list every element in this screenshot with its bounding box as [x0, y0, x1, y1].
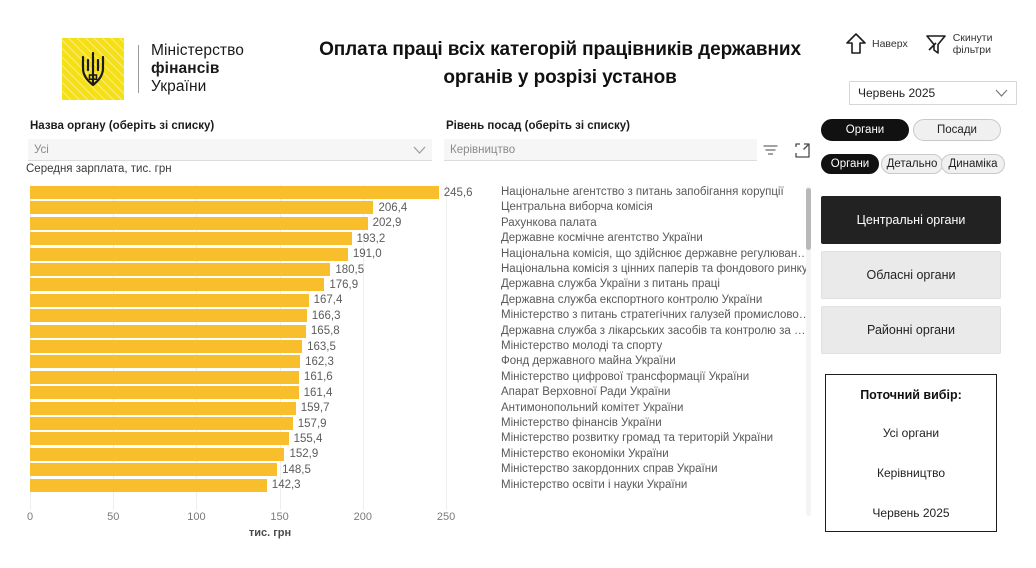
chart-category-label[interactable]: Міністерство розвитку громад та територі…	[501, 432, 773, 444]
chart-rows: 245,6Національне агентство з питань запо…	[30, 185, 805, 510]
arrow-up-icon	[845, 32, 867, 56]
chart-category-label[interactable]: Міністерство економіки України	[501, 448, 669, 460]
chart-bar-value: 167,4	[314, 294, 343, 306]
chart-bar[interactable]	[30, 294, 309, 307]
expand-icon[interactable]	[792, 140, 812, 160]
chart-bar[interactable]	[30, 340, 302, 353]
toggle-detalno[interactable]: Детально	[881, 154, 943, 174]
chart-bar-value: 191,0	[353, 248, 382, 260]
chart-category-label[interactable]: Міністерство закордонних справ України	[501, 463, 718, 475]
level-button-district[interactable]: Районні органи	[821, 306, 1001, 354]
dashboard-root: Міністерство фінансів України Оплата пра…	[0, 0, 1036, 568]
x-axis-tick: 0	[27, 511, 33, 523]
chart-category-label[interactable]: Державне космічне агентство України	[501, 232, 703, 244]
level-button-central[interactable]: Центральні органи	[821, 196, 1001, 244]
chart-category-label[interactable]: Рахункова палата	[501, 217, 597, 229]
clear-filter-icon	[924, 32, 948, 56]
page-header: Міністерство фінансів України Оплата пра…	[0, 0, 1036, 112]
logo-wordmark: Міністерство фінансів України	[151, 42, 244, 96]
filter-icon[interactable]	[760, 140, 780, 160]
chart-x-axis: 050100150200250	[30, 511, 805, 525]
chart-bar-row[interactable]: 163,5	[30, 339, 805, 354]
chart-bar[interactable]	[30, 232, 352, 245]
chart-bar-value: 161,4	[304, 387, 333, 399]
chart-bar-value: 161,6	[304, 371, 333, 383]
chart-bar[interactable]	[30, 325, 306, 338]
logo-line-3: України	[151, 78, 244, 96]
chart-bar[interactable]	[30, 402, 296, 415]
chart-bar-row[interactable]: 157,9	[30, 416, 805, 431]
logo-line-1: Міністерство	[151, 42, 244, 60]
chart-bar-value: 159,7	[301, 402, 330, 414]
chart-bar[interactable]	[30, 479, 267, 492]
chart-bar-value: 202,9	[373, 217, 402, 229]
chart-bar-value: 163,5	[307, 341, 336, 353]
chart-bar[interactable]	[30, 248, 348, 261]
chart-bar-row[interactable]: 152,9	[30, 447, 805, 462]
salary-bar-chart: Середня зарплата, тис. грн 245,6Націонал…	[20, 163, 815, 553]
level-filter-select[interactable]: Керівництво	[444, 139, 757, 161]
level-button-regional[interactable]: Обласні органи	[821, 251, 1001, 299]
chart-category-label[interactable]: Міністерство молоді та спорту	[501, 340, 662, 352]
chart-bar-value: 206,4	[378, 202, 407, 214]
chevron-down-icon	[995, 89, 1008, 97]
chart-category-label[interactable]: Фонд державного майна України	[501, 355, 676, 367]
chart-bar-row[interactable]: 159,7	[30, 401, 805, 416]
chart-bar-value: 165,8	[311, 325, 340, 337]
chart-bar[interactable]	[30, 309, 307, 322]
chart-bar-value: 245,6	[444, 187, 473, 199]
chart-bar-value: 193,2	[357, 233, 386, 245]
chart-bar[interactable]	[30, 371, 299, 384]
chart-category-label[interactable]: Національна комісія з цінних паперів та …	[501, 263, 808, 275]
chevron-down-icon	[413, 146, 426, 154]
chart-bar[interactable]	[30, 432, 289, 445]
toggle-posady-primary[interactable]: Посади	[913, 119, 1001, 141]
chart-bar[interactable]	[30, 217, 368, 230]
chart-bar-value: 180,5	[335, 264, 364, 276]
x-axis-tick: 50	[107, 511, 119, 523]
chart-bar[interactable]	[30, 263, 330, 276]
current-selection-period: Червень 2025	[872, 506, 949, 520]
level-filter-value: Керівництво	[450, 144, 515, 156]
chart-bar[interactable]	[30, 386, 299, 399]
scroll-to-top-button[interactable]: Наверх	[845, 32, 908, 56]
current-selection-title: Поточний вибір:	[860, 388, 962, 402]
x-axis-tick: 200	[354, 511, 372, 523]
x-axis-tick: 150	[270, 511, 288, 523]
chart-scrollbar[interactable]	[806, 186, 811, 516]
chart-plot-area: 245,6Національне агентство з питань запо…	[30, 185, 805, 510]
chart-category-label[interactable]: Державна служба з лікарських засобів та …	[501, 325, 811, 337]
chart-bar[interactable]	[30, 463, 277, 476]
chart-category-label[interactable]: Міністерство освіти і науки України	[501, 479, 687, 491]
chart-bar[interactable]	[30, 448, 284, 461]
chart-category-label[interactable]: Державна служба експортного контролю Укр…	[501, 294, 762, 306]
chart-bar-value: 142,3	[272, 479, 301, 491]
chart-category-label[interactable]: Апарат Верховної Ради України	[501, 386, 671, 398]
organ-filter-label: Назва органу (оберіть зі списку)	[30, 120, 214, 132]
chart-bar-row[interactable]: 162,3	[30, 354, 805, 369]
logo-line-2: фінансів	[151, 60, 244, 78]
current-selection-organ: Усі органи	[883, 426, 939, 440]
chart-bar-row[interactable]: 206,4	[30, 200, 805, 215]
current-selection-box: Поточний вибір: Усі органи Керівництво Ч…	[825, 374, 997, 532]
chart-bar-value: 155,4	[294, 433, 323, 445]
x-axis-tick: 100	[187, 511, 205, 523]
chart-bar[interactable]	[30, 201, 373, 214]
chart-category-label[interactable]: Національна комісія, що здійснює державн…	[501, 248, 811, 260]
ministry-logo: Міністерство фінансів України	[62, 38, 244, 100]
chart-x-axis-title: тис. грн	[30, 527, 510, 539]
chart-scrollbar-thumb[interactable]	[806, 188, 811, 250]
level-filter-label: Рівень посад (оберіть зі списку)	[446, 120, 630, 132]
chart-bar[interactable]	[30, 278, 324, 291]
chart-bar[interactable]	[30, 417, 293, 430]
chart-bar-value: 162,3	[305, 356, 334, 368]
scroll-to-top-label: Наверх	[872, 38, 908, 50]
chart-caption: Середня зарплата, тис. грн	[26, 163, 172, 175]
organ-filter-value: Усі	[34, 144, 49, 156]
chart-bar-value: 176,9	[329, 279, 358, 291]
organ-filter-select[interactable]: Усі	[28, 139, 432, 161]
chart-bar-value: 152,9	[289, 448, 318, 460]
page-title: Оплата праці всіх категорій працівників …	[290, 36, 830, 92]
period-select[interactable]: Червень 2025	[849, 81, 1017, 105]
chart-category-label[interactable]: Міністерство з питань стратегічних галуз…	[501, 309, 811, 321]
toggle-organi-primary[interactable]: Органи	[821, 119, 909, 141]
chart-bar-value: 166,3	[312, 310, 341, 322]
toggle-organi-secondary[interactable]: Органи	[821, 154, 879, 174]
chart-category-label[interactable]: Антимонопольний комітет України	[501, 402, 683, 414]
chart-bar-row[interactable]: 202,9	[30, 216, 805, 231]
ukraine-trident-icon	[62, 38, 124, 100]
chart-bar[interactable]	[30, 355, 300, 368]
toggle-dynamika[interactable]: Динаміка	[941, 154, 1005, 174]
period-select-value: Червень 2025	[858, 86, 935, 100]
chart-category-label[interactable]: Центральна виборча комісія	[501, 201, 653, 213]
chart-category-label[interactable]: Міністерство фінансів України	[501, 417, 662, 429]
reset-filters-label: Скинути фільтри	[953, 32, 997, 56]
chart-bar-row[interactable]: 142,3	[30, 478, 805, 493]
logo-divider	[138, 45, 139, 93]
chart-bar-value: 157,9	[298, 418, 327, 430]
chart-bar-row[interactable]: 161,4	[30, 385, 805, 400]
chart-bar-value: 148,5	[282, 464, 311, 476]
header-actions: Наверх Скинути фільтри	[845, 32, 997, 56]
reset-filters-button[interactable]: Скинути фільтри	[924, 32, 997, 56]
current-selection-level: Керівництво	[877, 466, 945, 480]
chart-bar[interactable]	[30, 186, 439, 199]
chart-category-label[interactable]: Національне агентство з питань запобіган…	[501, 186, 784, 198]
x-axis-tick: 250	[437, 511, 455, 523]
chart-category-label[interactable]: Державна служба України з питань праці	[501, 278, 720, 290]
chart-category-label[interactable]: Міністерство цифрової трансформації Укра…	[501, 371, 749, 383]
